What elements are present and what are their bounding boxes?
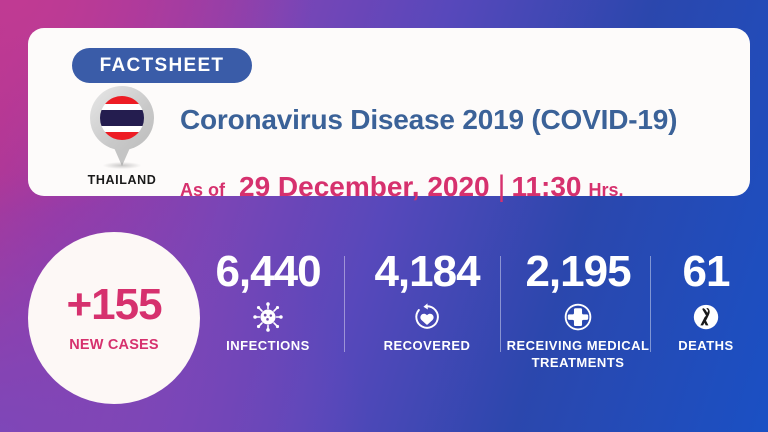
heart-recovery-icon (352, 302, 502, 332)
recovered-label: RECOVERED (352, 338, 502, 355)
medical-cross-icon (504, 302, 652, 332)
stat-deaths: 61 DEATHS (654, 250, 758, 355)
new-cases-circle: +155 NEW CASES (28, 232, 200, 404)
statistics-strip: +155 NEW CASES 6,440 (0, 214, 768, 432)
divider-3 (650, 256, 651, 352)
thailand-flag-pin-icon (90, 86, 154, 168)
thailand-flag-icon (100, 96, 144, 140)
new-cases-label: NEW CASES (69, 337, 159, 353)
report-time-unit: Hrs. (589, 180, 624, 201)
header-card: FACTSHEET THAILAND Coronavirus Disease 2… (28, 28, 750, 196)
factsheet-infographic: FACTSHEET THAILAND Coronavirus Disease 2… (0, 0, 768, 432)
recovered-value: 4,184 (352, 250, 502, 294)
report-time: 11:30 (511, 171, 581, 203)
infections-label: INFECTIONS (190, 338, 346, 355)
pin-shadow (103, 162, 141, 169)
flag-stripe-blue (100, 110, 144, 126)
treatments-label: RECEIVING MEDICAL TREATMENTS (504, 338, 652, 371)
report-date: 29 December, 2020 (239, 171, 490, 203)
stat-recovered: 4,184 RECOVERED (352, 250, 502, 355)
factsheet-badge-label: FACTSHEET (100, 55, 225, 77)
treatments-value: 2,195 (504, 250, 652, 294)
deaths-label: DEATHS (654, 338, 758, 355)
deaths-value: 61 (654, 250, 758, 294)
new-cases-value: +155 (66, 283, 161, 327)
page-title: Coronavirus Disease 2019 (COVID-19) (180, 104, 677, 136)
as-of-prefix: As of (180, 180, 225, 201)
country-label: THAILAND (76, 173, 168, 187)
divider-1 (344, 256, 345, 352)
mourning-ribbon-icon (654, 302, 758, 332)
date-time-line: As of 29 December, 2020 | 11:30 Hrs. (180, 170, 624, 204)
stat-infections: 6,440 (190, 250, 346, 355)
infections-value: 6,440 (190, 250, 346, 294)
country-pin-block: THAILAND (76, 86, 168, 187)
stat-receiving-medical-treatments: 2,195 RECEIVING MEDICAL TREATMENTS (504, 250, 652, 371)
divider-2 (500, 256, 501, 352)
virus-icon (190, 302, 346, 332)
factsheet-badge: FACTSHEET (72, 48, 252, 83)
date-time-separator: | (498, 170, 506, 204)
